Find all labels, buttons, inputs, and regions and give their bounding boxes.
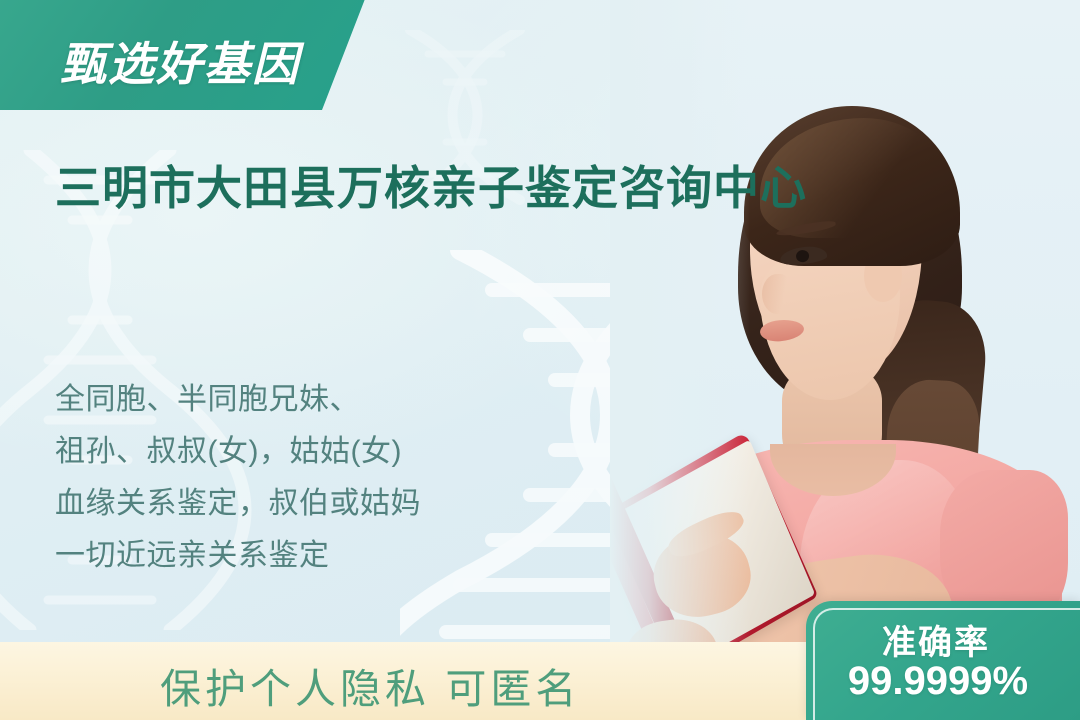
description-line: 血缘关系鉴定，叔伯或姑妈	[55, 478, 615, 530]
nose	[762, 274, 792, 314]
brand-logo-text: 甄选好基因	[60, 28, 300, 94]
description-line: 祖孙、叔叔(女)，姑姑(女)	[55, 426, 615, 478]
privacy-bar-text: 保护个人隐私 可匿名	[160, 655, 580, 715]
promo-banner: 甄选好基因 三明市大田县万核亲子鉴定咨询中心 全同胞、半同胞兄妹、 祖孙、叔叔(…	[0, 0, 1080, 720]
photo-edge-fade	[610, 0, 750, 720]
accuracy-badge: 准确率 99.9999%	[806, 601, 1080, 720]
description-line: 全同胞、半同胞兄妹、	[55, 374, 615, 426]
page-title: 三明市大田县万核亲子鉴定咨询中心	[55, 158, 855, 219]
service-description: 全同胞、半同胞兄妹、 祖孙、叔叔(女)，姑姑(女) 血缘关系鉴定，叔伯或姑妈 一…	[55, 374, 615, 582]
accuracy-label: 准确率	[806, 615, 1066, 664]
accuracy-value: 99.9999%	[806, 659, 1070, 704]
description-line: 一切近远亲关系鉴定	[55, 530, 615, 582]
